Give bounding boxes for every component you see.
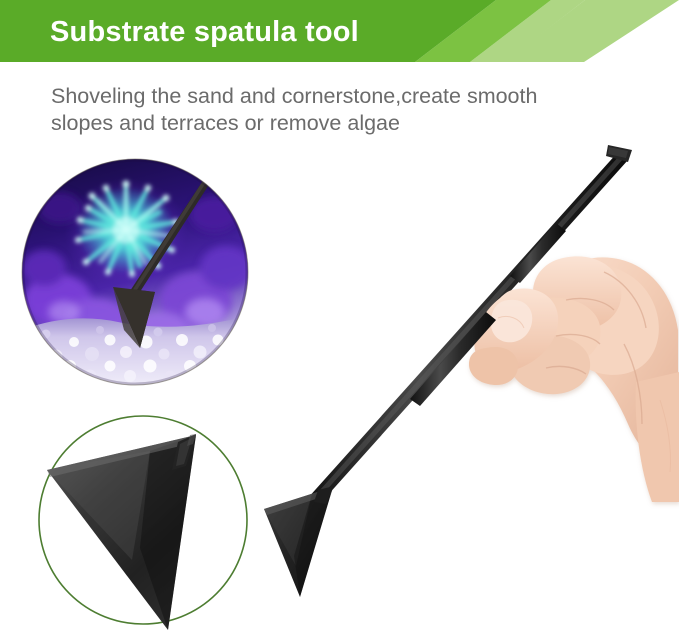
tool-shaft — [307, 145, 632, 506]
tool-shaft-over-grip — [510, 223, 566, 283]
subtitle-text: Shoveling the sand and cornerstone,creat… — [51, 83, 651, 137]
coral-anemone — [75, 180, 179, 277]
product-feature-image: Substrate spatula tool Shoveling the san… — [0, 0, 679, 630]
blade-circle-ring — [39, 416, 247, 624]
blade-handle-stub — [172, 434, 196, 470]
page-title: Substrate spatula tool — [50, 12, 359, 52]
tool-shaft-lower-grip — [410, 312, 496, 406]
subtitle-line-2: slopes and terraces or remove algae — [51, 110, 651, 137]
hand-holding-tool-figure — [264, 145, 679, 597]
header-banner: Substrate spatula tool — [0, 0, 679, 64]
hand — [469, 256, 679, 502]
aquarium-inset-figure — [22, 159, 252, 385]
blade-shape — [47, 435, 196, 630]
inset-tool — [113, 176, 212, 348]
gravel-bed — [22, 316, 248, 385]
blade-closeup-figure — [39, 416, 247, 630]
subtitle-line-1: Shoveling the sand and cornerstone,creat… — [51, 83, 651, 110]
tool-blade — [264, 486, 334, 597]
